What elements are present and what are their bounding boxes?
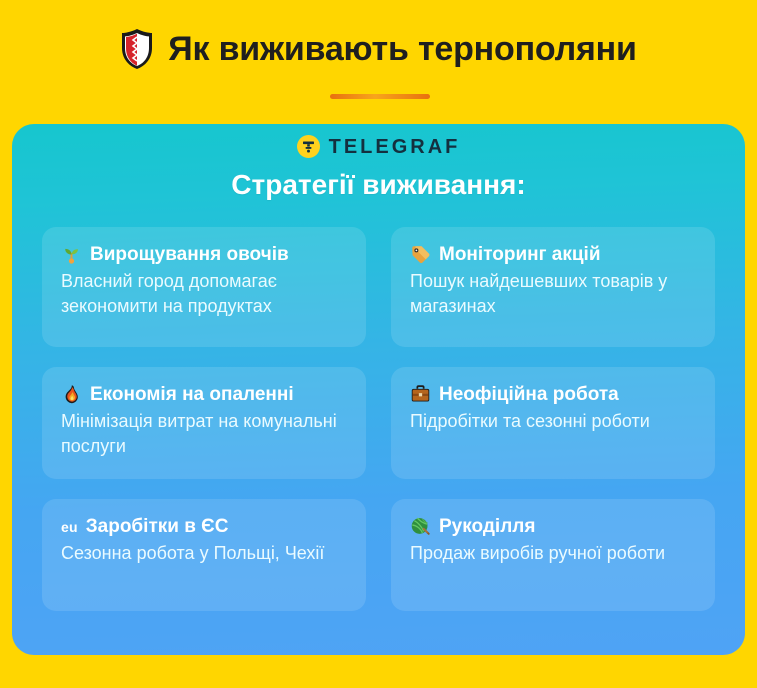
panel-title-text: Стратегії виживання: <box>231 169 525 200</box>
strategy-card-grid: Вирощування овочів Власний город допомаг… <box>42 227 715 611</box>
card-description: Пошук найдешевших товарів у магазинах <box>410 269 696 319</box>
strategy-card[interactable]: Неофіційна робота Підробітки та сезонні … <box>391 367 715 479</box>
card-header: Економія на опаленні <box>61 384 347 406</box>
card-description: Мінімізація витрат на комунальні послуги <box>61 409 347 459</box>
card-header: Вирощування овочів <box>61 244 347 266</box>
brand-name: TELEGRAF <box>329 137 461 157</box>
infographic-page: { "header": { "title": "Як виживають тер… <box>0 0 757 688</box>
card-header: eu Заробітки в ЄС <box>61 516 347 538</box>
card-header: Неофіційна робота <box>410 384 696 406</box>
page-header: Як виживають тернополяни <box>0 0 757 122</box>
panel-title: Стратегії виживання: <box>12 169 745 201</box>
page-title: Як виживають тернополяни <box>168 32 636 66</box>
eu-flag-icon: eu <box>61 516 78 538</box>
card-description: Власний город допомагає зекономити на пр… <box>61 269 347 319</box>
header-underline <box>330 94 430 99</box>
card-title: Неофіційна робота <box>439 384 619 406</box>
price-tag-icon <box>410 244 431 265</box>
card-title: Заробітки в ЄС <box>86 516 229 538</box>
seedling-icon <box>61 244 82 265</box>
strategy-card[interactable]: Рукоділля Продаж виробів ручної роботи <box>391 499 715 611</box>
card-description: Підробітки та сезонні роботи <box>410 409 696 434</box>
strategy-card[interactable]: Економія на опаленні Мінімізація витрат … <box>42 367 366 479</box>
card-title: Економія на опаленні <box>90 384 294 406</box>
briefcase-icon <box>410 384 431 405</box>
card-title: Моніторинг акцій <box>439 244 601 266</box>
strategy-card[interactable]: eu Заробітки в ЄС Сезонна робота у Польщ… <box>42 499 366 611</box>
card-title: Вирощування овочів <box>90 244 289 266</box>
strategy-card[interactable]: Моніторинг акцій Пошук найдешевших товар… <box>391 227 715 347</box>
telegraf-logo-icon <box>297 135 320 158</box>
card-description: Продаж виробів ручної роботи <box>410 541 696 566</box>
header-row: Як виживають тернополяни <box>0 28 757 70</box>
card-header: Моніторинг акцій <box>410 244 696 266</box>
strategy-card[interactable]: Вирощування овочів Власний город допомаг… <box>42 227 366 347</box>
brand-logo: TELEGRAF <box>12 135 745 158</box>
fire-icon <box>61 384 82 405</box>
card-header: Рукоділля <box>410 516 696 538</box>
shield-icon <box>120 28 154 70</box>
card-description: Сезонна робота у Польщі, Чехії <box>61 541 347 566</box>
main-panel: TELEGRAF Стратегії виживання: Вирощуванн… <box>12 124 745 655</box>
card-title: Рукоділля <box>439 516 535 538</box>
yarn-icon <box>410 516 431 537</box>
